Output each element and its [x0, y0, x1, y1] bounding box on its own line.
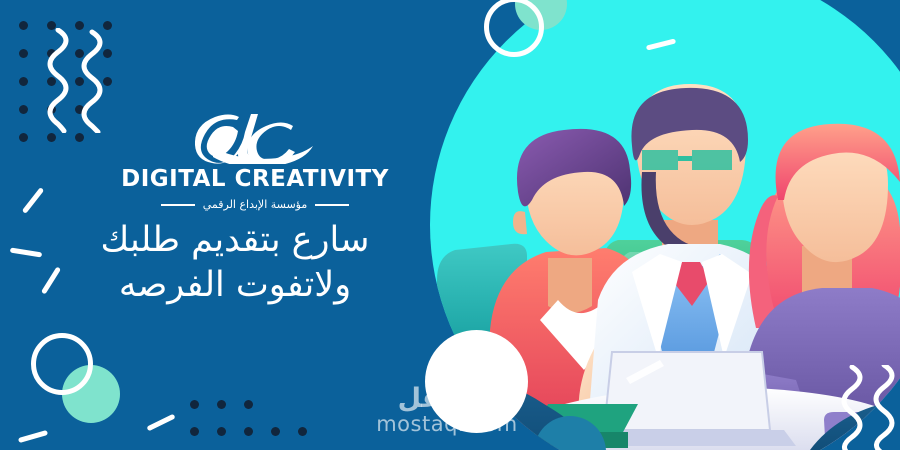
brand-subtitle-row: مؤسسة الإبداع الرقمي — [95, 198, 415, 211]
rule-left — [161, 204, 195, 206]
dash-mid-left-lower — [10, 248, 42, 258]
dot — [47, 133, 56, 142]
dot — [190, 400, 199, 409]
squiggle-bottom-right-pair — [838, 365, 900, 450]
dot — [19, 105, 28, 114]
dot — [298, 427, 307, 436]
headline-line-2: ولاتفوت الفرصه — [60, 263, 410, 308]
doctor-glasses-left — [642, 150, 678, 170]
dash-bottom-left — [18, 430, 48, 443]
dot — [271, 427, 280, 436]
dash-mid-left-upper — [22, 187, 44, 214]
dot — [244, 400, 253, 409]
dot — [217, 427, 226, 436]
dot — [19, 21, 28, 30]
dot — [19, 77, 28, 86]
doctor-glasses-right — [692, 150, 732, 170]
brand-subtitle: مؤسسة الإبداع الرقمي — [203, 198, 308, 211]
dot — [19, 49, 28, 58]
dot — [19, 133, 28, 142]
white-circle-watermark-backdrop — [425, 330, 528, 433]
doctor-glasses-bridge — [678, 156, 692, 161]
headline: سارع بتقديم طلبك ولاتفوت الفرصه — [60, 218, 410, 308]
ring-outline-bottom — [31, 333, 93, 395]
dot — [244, 427, 253, 436]
dot — [75, 133, 84, 142]
dot — [217, 400, 226, 409]
dot — [298, 400, 307, 409]
brand-block: DIGITAL CREATIVITY مؤسسة الإبداع الرقمي — [95, 108, 415, 211]
left-ear — [513, 211, 527, 234]
headline-line-1: سارع بتقديم طلبك — [60, 218, 410, 263]
dc-monogram-logo — [195, 108, 315, 164]
dot-grid-bottom — [190, 400, 325, 450]
rule-right — [315, 204, 349, 206]
dot — [271, 400, 280, 409]
brand-name: DIGITAL CREATIVITY — [95, 166, 415, 192]
promo-banner: DIGITAL CREATIVITY مؤسسة الإبداع الرقمي … — [0, 0, 900, 450]
dash-bottom-center — [146, 414, 175, 432]
dash-left-diagonal — [41, 266, 61, 294]
dot — [190, 427, 199, 436]
